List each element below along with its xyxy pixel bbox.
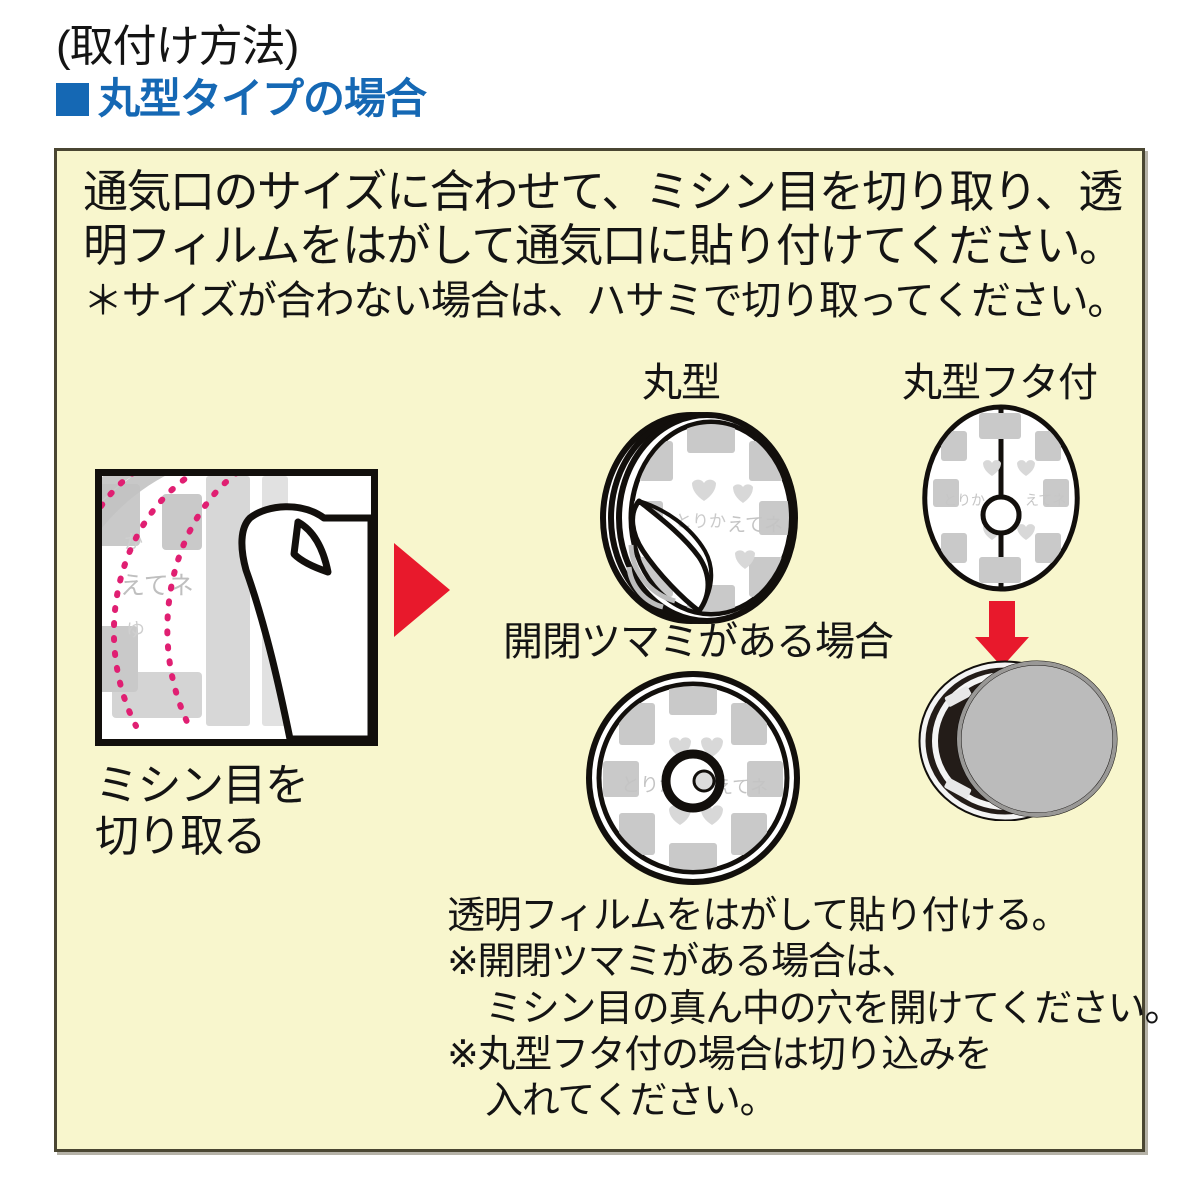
subtitle-row: 丸型タイプの場合	[56, 78, 1146, 120]
tear-illustration-icon: えてネ か ゆ	[102, 476, 371, 739]
bottom-notes-block: 透明フィルムをはがして貼り付ける。 ※開閉ツマミがある場合は、 ミシン目の真ん中…	[447, 893, 1137, 1125]
intro-line-2: 明フィルムをはがして通気口に貼り付けてください。	[83, 219, 1123, 273]
page-title: (取付け方法)	[56, 24, 1146, 70]
svg-text:か: か	[124, 532, 143, 553]
round-filter-knob-icon: とりか えてネ	[577, 663, 812, 893]
triangle-right-icon	[394, 543, 450, 637]
vent-cap-icon	[921, 663, 1115, 819]
tear-caption-line-2: 切り取る	[95, 811, 385, 862]
open-close-knob-icon	[666, 754, 720, 808]
intro-note: ＊サイズが合わない場合は、ハサミで切り取ってください。	[83, 277, 1123, 325]
round-with-lid-figure: とりか えてネ	[897, 401, 1147, 826]
round-filter-slit-icon: とりか えてネ	[897, 401, 1147, 821]
slit-disc-icon: とりか えてネ	[925, 407, 1077, 589]
tear-caption: ミシン目を 切り取る	[95, 760, 385, 862]
round-filter-figure: とりか えてネ	[587, 405, 817, 635]
bottom-note-1: 透明フィルムをはがして貼り付ける。	[447, 893, 1137, 939]
figure-label-round-with-lid: 丸型フタ付	[902, 363, 1097, 403]
bottom-note-5: 入れてください。	[447, 1078, 1137, 1124]
arrow-down-icon	[975, 601, 1029, 667]
filter-text-left: とりか	[943, 492, 985, 508]
figure-label-round: 丸型	[642, 363, 720, 403]
filter-text: えてネ	[120, 572, 194, 600]
tear-figure: えてネ か ゆ ミシン目を 切り取る	[95, 469, 385, 862]
round-filter-peel-icon: とりか えてネ	[587, 405, 817, 630]
bottom-note-2: ※開閉ツマミがある場合は、	[447, 939, 1137, 985]
heading-block: (取付け方法) 丸型タイプの場合	[56, 24, 1146, 120]
tear-caption-line-1: ミシン目を	[95, 760, 385, 811]
intro-text-block: 通気口のサイズに合わせて、ミシン目を切り取り、透 明フィルムをはがして通気口に貼…	[83, 165, 1123, 325]
tear-illustration-frame: えてネ か ゆ	[95, 469, 378, 746]
bottom-note-3: ミシン目の真ん中の穴を開けてください。	[447, 986, 1137, 1032]
intro-line-1: 通気口のサイズに合わせて、ミシン目を切り取り、透	[83, 165, 1123, 219]
instruction-panel: 通気口のサイズに合わせて、ミシン目を切り取り、透 明フィルムをはがして通気口に貼…	[54, 148, 1145, 1152]
knob-filter-figure: とりか えてネ	[577, 663, 812, 898]
filter-text-right: えてネ	[727, 515, 783, 536]
blue-square-bullet-icon	[56, 83, 89, 116]
svg-text:ゆ: ゆ	[126, 620, 145, 641]
section-subtitle: 丸型タイプの場合	[98, 78, 426, 120]
filter-text-left: とりか	[675, 512, 726, 531]
filter-text-right: えてネ	[1025, 492, 1066, 508]
bottom-note-4: ※丸型フタ付の場合は切り込みを	[447, 1032, 1137, 1078]
